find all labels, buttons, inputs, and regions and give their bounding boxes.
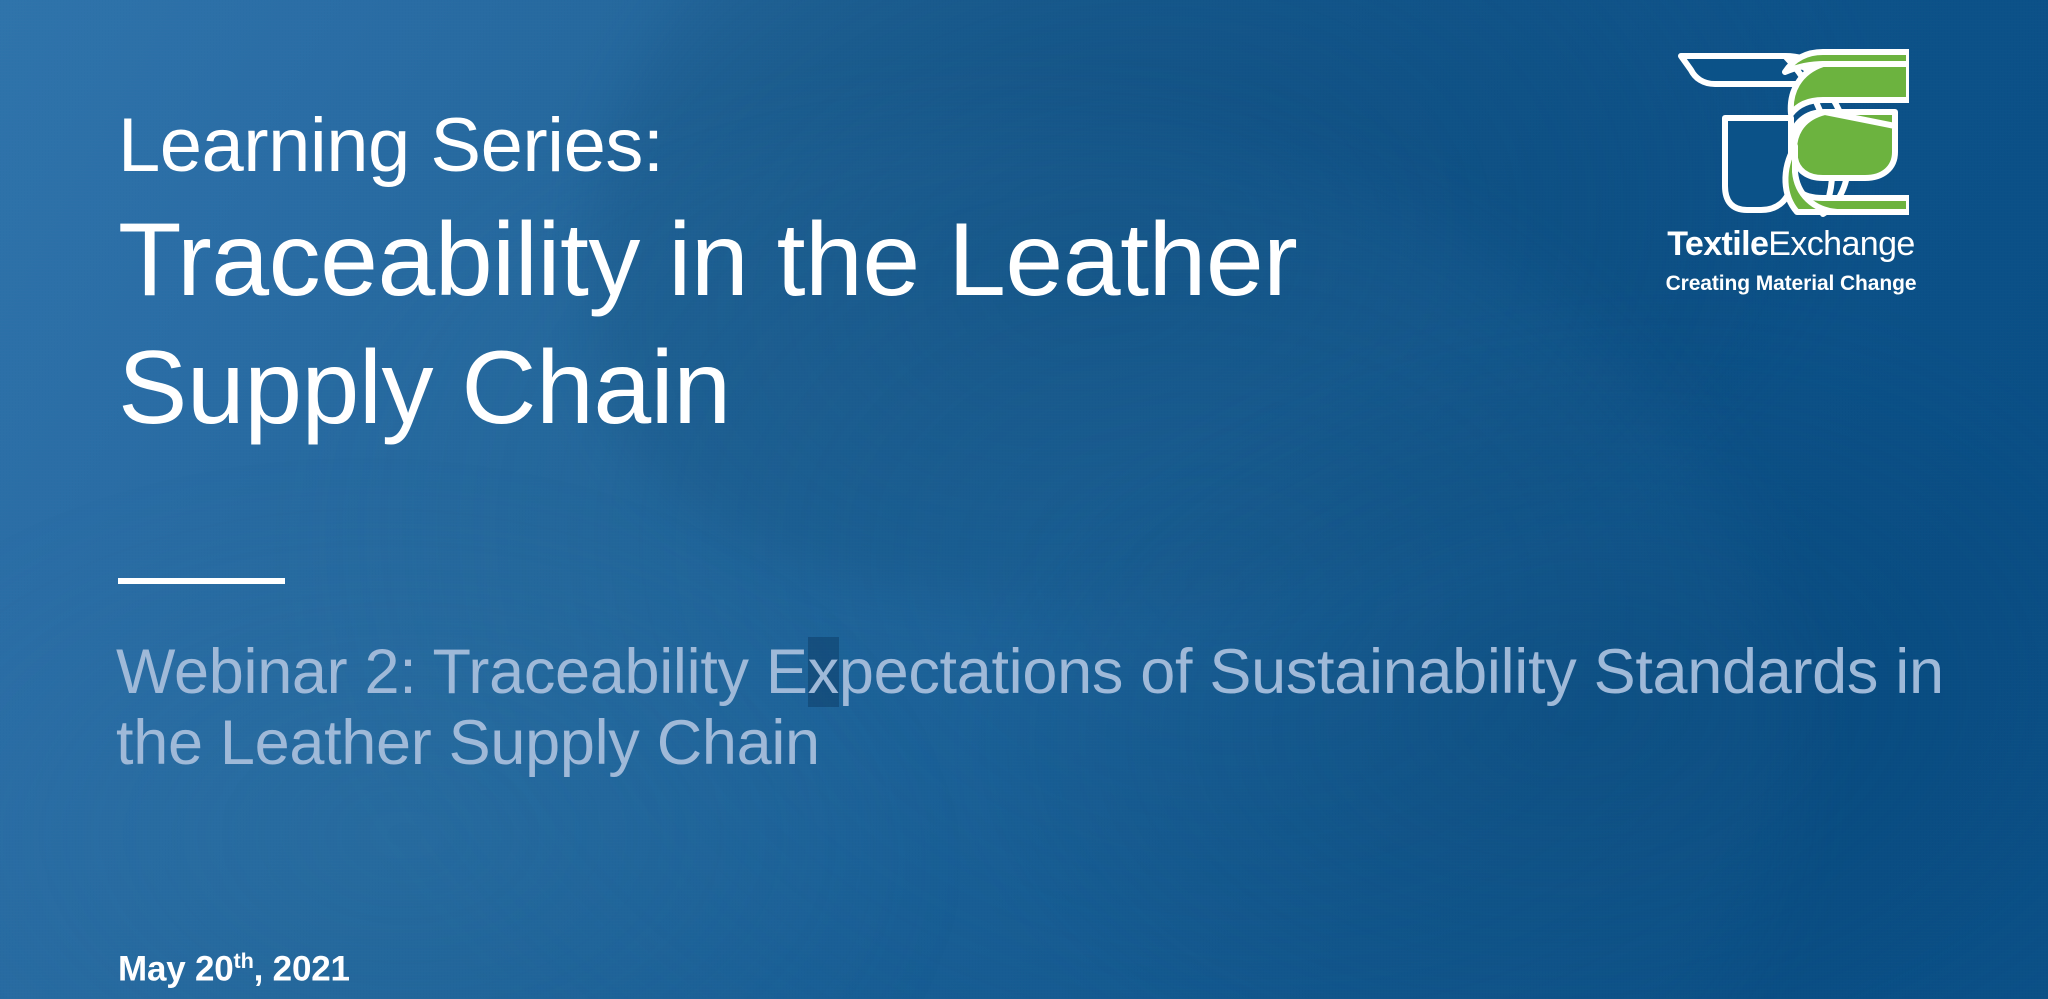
- date-ordinal-suffix: th: [234, 948, 254, 973]
- title-line-2: Supply Chain: [118, 336, 1538, 440]
- logo-wordmark: TextileExchange: [1626, 227, 1956, 261]
- logo-wordmark-textile: Textile: [1667, 225, 1768, 263]
- title-divider-rule: [118, 578, 285, 584]
- presentation-date: May 20th, 2021: [118, 948, 350, 990]
- textile-exchange-logo: TextileExchange Creating Material Change: [1626, 46, 1956, 294]
- title-line-1: Traceability in the Leather: [118, 208, 1538, 312]
- title-eyebrow: Learning Series:: [118, 108, 1538, 184]
- logo-wordmark-exchange: Exchange: [1768, 225, 1914, 263]
- textile-exchange-leaf-monogram-icon: [1673, 46, 1909, 218]
- logo-tagline: Creating Material Change: [1626, 273, 1956, 294]
- slide-content: Learning Series: Traceability in the Lea…: [0, 0, 2048, 999]
- title-block: Learning Series: Traceability in the Lea…: [118, 108, 1538, 464]
- date-month-day: May 20: [118, 950, 234, 989]
- subtitle-part-1: Webinar 2: Traceability E: [116, 637, 808, 707]
- subtitle: Webinar 2: Traceability Expectations of …: [116, 637, 1966, 778]
- slide-canvas: Learning Series: Traceability in the Lea…: [0, 0, 2048, 999]
- date-year: , 2021: [254, 950, 350, 989]
- subtitle-selected-text: x: [808, 637, 839, 707]
